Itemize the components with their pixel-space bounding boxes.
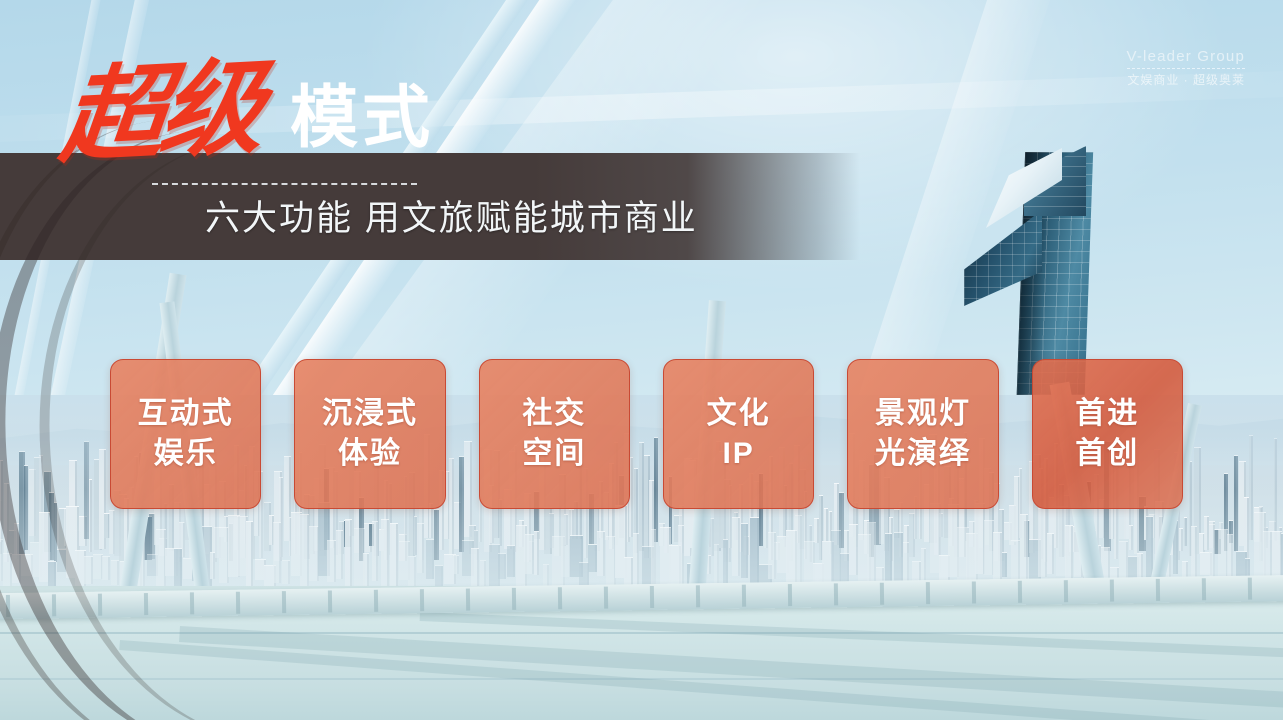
brand-name-cn: 文娱商业 · 超级奥莱: [1126, 71, 1245, 88]
brand-name-en: V-leader Group: [1126, 48, 1245, 65]
headline-mode: 模式: [290, 84, 434, 152]
feature-card-line-1: 沉浸式: [322, 394, 418, 434]
brand-divider: [1127, 68, 1245, 69]
feature-card[interactable]: 沉浸式体验: [294, 359, 445, 509]
slide-subtitle: 六大功能 用文旅赋能城市商业: [205, 196, 698, 242]
slide-canvas: 超级 模式 六大功能 用文旅赋能城市商业 V-leader Group 文娱商业…: [0, 0, 1283, 720]
feature-card[interactable]: 首进首创: [1032, 359, 1183, 509]
feature-card-line-2: IP: [722, 434, 754, 474]
brand-logo: V-leader Group 文娱商业 · 超级奥莱: [1126, 48, 1245, 88]
feature-card[interactable]: 社交空间: [479, 359, 630, 509]
feature-card-line-1: 景观灯: [875, 394, 971, 434]
feature-card-line-2: 光演绎: [875, 434, 971, 474]
feature-card-line-2: 空间: [522, 434, 586, 474]
headline-group: 超级 模式: [62, 62, 822, 192]
feature-card-line-1: 文化: [707, 394, 771, 434]
feature-card[interactable]: 文化IP: [663, 359, 814, 509]
feature-card-row: 互动式娱乐沉浸式体验社交空间文化IP景观灯光演绎首进首创: [110, 359, 1183, 507]
feature-card-line-2: 娱乐: [154, 434, 218, 474]
feature-card-line-2: 首创: [1075, 434, 1139, 474]
feature-card-line-1: 社交: [522, 394, 586, 434]
feature-card-line-2: 体验: [338, 434, 402, 474]
feature-card-line-1: 首进: [1075, 394, 1139, 434]
headline-divider: [152, 183, 417, 185]
feature-card-line-1: 互动式: [138, 394, 234, 434]
headline-calligraphy: 超级: [56, 57, 264, 171]
feature-card[interactable]: 互动式娱乐: [110, 359, 261, 509]
feature-card[interactable]: 景观灯光演绎: [847, 359, 998, 509]
